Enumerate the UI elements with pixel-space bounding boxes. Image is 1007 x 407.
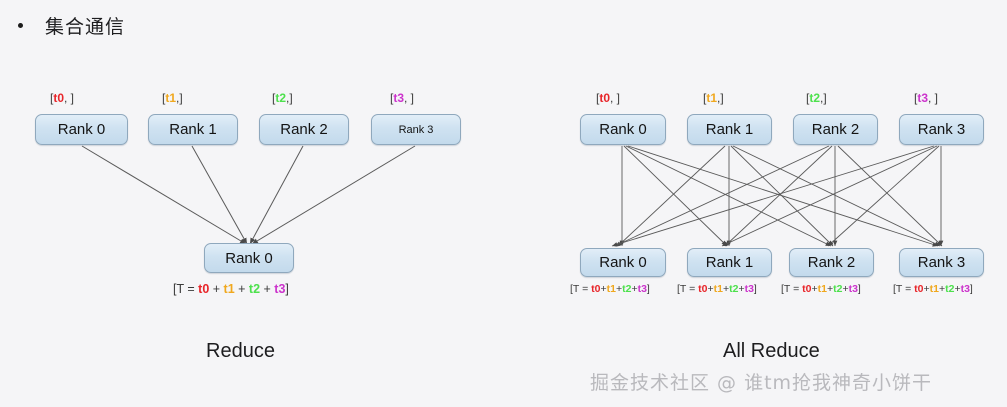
reduce-top-node-3[interactable]: Rank 3 [371,114,461,145]
allreduce-tag-2: [t2,] [806,91,827,105]
allreduce-tag-3: [t3, ] [914,91,938,105]
token-t0: t0 [198,282,209,296]
allreduce-top-node-1[interactable]: Rank 1 [687,114,772,145]
reduce-edge-group [82,146,415,244]
token-t0: t0 [53,91,64,105]
token-t3: t3 [274,282,285,296]
allreduce-edge-1-3 [733,146,940,246]
allreduce-edge-2-3 [838,146,942,246]
reduce-top-node-2[interactable]: Rank 2 [259,114,349,145]
allreduce-result-formula-2: [T = t0+t1+t2+t3] [781,283,861,295]
token-t3: t3 [638,283,647,295]
reduce-bottom-node-0[interactable]: Rank 0 [204,243,294,273]
allreduce-bottom-node-0[interactable]: Rank 0 [580,248,666,277]
reduce-edge-2 [250,146,303,244]
token-t1: t1 [818,283,827,295]
allreduce-edge-0-1 [624,146,727,246]
token-t3: t3 [849,283,858,295]
allreduce-result-formula-0: [T = t0+t1+t2+t3] [570,283,650,295]
allreduce-caption: All Reduce [723,340,820,363]
watermark: 掘金技术社区 @ 谁tm抢我神奇小饼干 [590,368,932,395]
token-T: T [176,282,183,296]
token-t1: t1 [224,282,235,296]
token-t2: t2 [809,91,820,105]
token-t1: t1 [930,283,939,295]
reduce-tag-1: [t1,] [162,91,183,105]
reduce-tag-3: [t3, ] [390,91,414,105]
reduce-top-node-1[interactable]: Rank 1 [148,114,238,145]
allreduce-edge-3-0 [612,146,934,246]
reduce-edge-0 [82,146,246,244]
token-t3: t3 [745,283,754,295]
reduce-top-node-0[interactable]: Rank 0 [35,114,128,145]
token-t1: t1 [165,91,176,105]
token-t3: t3 [917,91,928,105]
allreduce-bottom-node-1[interactable]: Rank 1 [687,248,772,277]
reduce-caption: Reduce [206,340,275,363]
allreduce-top-node-2[interactable]: Rank 2 [793,114,878,145]
page-title: 集合通信 [45,12,125,39]
allreduce-edge-2-1 [725,146,832,246]
reduce-result-formula: [T = t0 + t1 + t2 + t3] [173,282,289,296]
token-t2: t2 [249,282,260,296]
allreduce-edge-group [612,146,942,246]
connector-edges [0,0,1007,407]
allreduce-result-formula-1: [T = t0+t1+t2+t3] [677,283,757,295]
token-t1: t1 [706,91,717,105]
reduce-tag-2: [t2,] [272,91,293,105]
reduce-edge-3 [252,146,415,244]
token-t3: t3 [961,283,970,295]
slide-canvas: 集合通信 [0,0,1007,407]
reduce-edge-1 [192,146,247,244]
allreduce-bottom-node-2[interactable]: Rank 2 [789,248,874,277]
token-t0: t0 [599,91,610,105]
slide-heading: 集合通信 [18,12,125,39]
allreduce-edge-3-1 [722,146,937,246]
allreduce-edge-3-2 [828,146,939,246]
allreduce-top-node-0[interactable]: Rank 0 [580,114,666,145]
token-t1: t1 [607,283,616,295]
allreduce-edge-0-2 [626,146,831,246]
reduce-tag-0: [t0, ] [50,91,74,105]
allreduce-bottom-node-3[interactable]: Rank 3 [899,248,984,277]
allreduce-edge-1-0 [618,146,725,246]
allreduce-edge-1-2 [731,146,833,246]
allreduce-edge-2-0 [615,146,829,246]
token-t1: t1 [714,283,723,295]
bullet-dot-icon [18,23,23,28]
token-t2: t2 [275,91,286,105]
token-t3: t3 [393,91,404,105]
allreduce-result-formula-3: [T = t0+t1+t2+t3] [893,283,973,295]
allreduce-tag-1: [t1,] [703,91,724,105]
allreduce-edge-0-3 [628,146,938,246]
allreduce-tag-0: [t0, ] [596,91,620,105]
allreduce-top-node-3[interactable]: Rank 3 [899,114,984,145]
